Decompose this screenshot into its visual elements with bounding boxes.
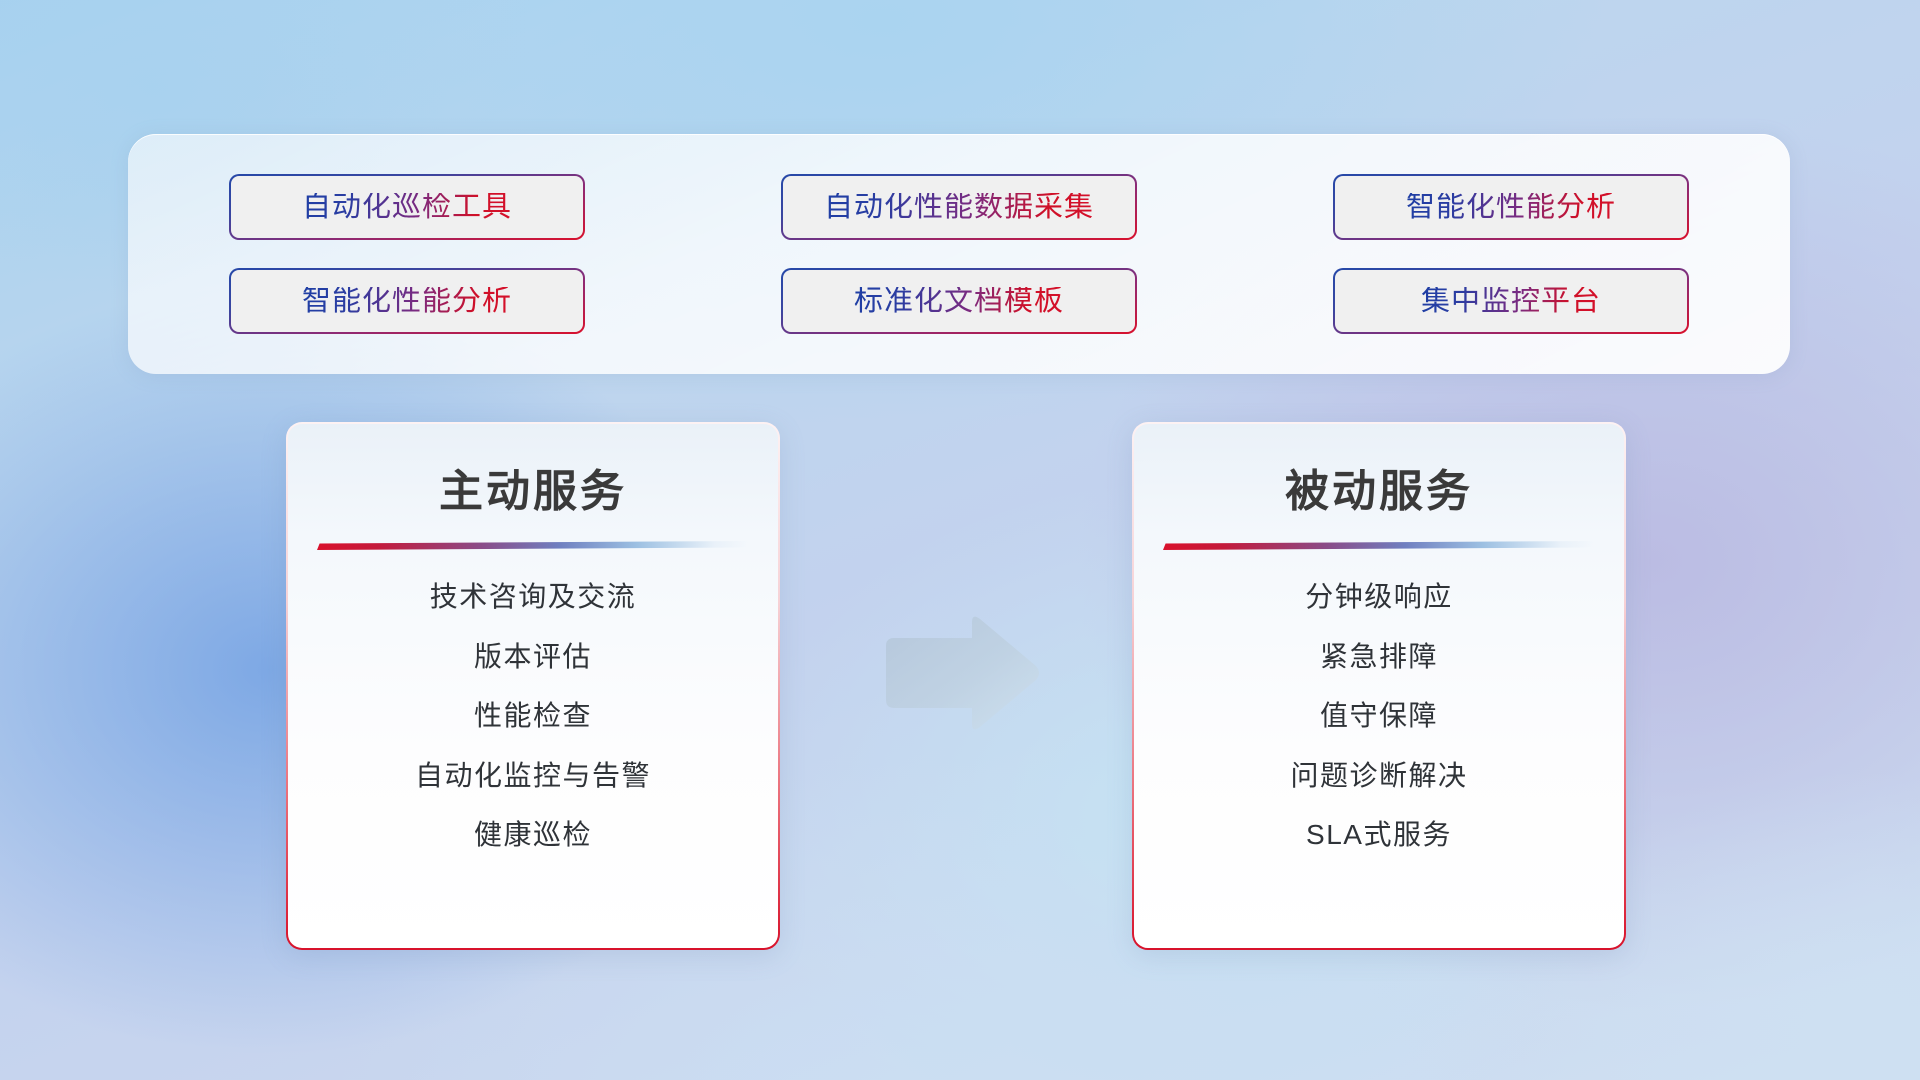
capability-pill[interactable]: 自动化巡检工具 xyxy=(229,174,585,240)
service-list-item: 性能检查 xyxy=(474,699,592,733)
capability-panel: 自动化巡检工具 自动化性能数据采集 智能化性能分析 智能化性能分析 标准化文档模… xyxy=(128,134,1790,374)
service-list-item: 问题诊断解决 xyxy=(1290,759,1467,793)
capability-pill-label: 智能化性能分析 xyxy=(1406,193,1616,222)
service-list-item: 健康巡检 xyxy=(474,818,592,852)
service-card-reactive: 被动服务 分钟级响应 紧急排障 值守保障 问题诊断解决 SLA式服务 xyxy=(1132,422,1626,950)
capability-row-2: 智能化性能分析 标准化文档模板 集中监控平台 xyxy=(128,268,1790,334)
capability-pill-label: 智能化性能分析 xyxy=(302,287,512,316)
capability-pill-label: 自动化巡检工具 xyxy=(302,193,512,222)
service-list-item: 分钟级响应 xyxy=(1305,580,1453,614)
service-list-item: 技术咨询及交流 xyxy=(430,580,637,614)
service-list-item: 版本评估 xyxy=(474,640,592,674)
service-card-proactive: 主动服务 技术咨询及交流 版本评估 性能检查 自动化监控与告警 健康巡检 xyxy=(286,422,780,950)
service-list-item: 自动化监控与告警 xyxy=(415,759,651,793)
capability-pill-label: 自动化性能数据采集 xyxy=(824,193,1094,222)
title-divider xyxy=(317,541,749,550)
capability-row-1: 自动化巡检工具 自动化性能数据采集 智能化性能分析 xyxy=(128,174,1790,240)
capability-pill[interactable]: 自动化性能数据采集 xyxy=(781,174,1137,240)
service-item-list: 技术咨询及交流 版本评估 性能检查 自动化监控与告警 健康巡检 xyxy=(288,580,778,852)
service-list-item: SLA式服务 xyxy=(1306,818,1452,852)
service-item-list: 分钟级响应 紧急排障 值守保障 问题诊断解决 SLA式服务 xyxy=(1134,580,1624,852)
service-list-item: 值守保障 xyxy=(1320,699,1438,733)
capability-pill[interactable]: 标准化文档模板 xyxy=(781,268,1137,334)
capability-pill[interactable]: 智能化性能分析 xyxy=(229,268,585,334)
capability-pill-label: 集中监控平台 xyxy=(1421,287,1601,316)
service-card-title: 主动服务 xyxy=(439,464,627,519)
service-list-item: 紧急排障 xyxy=(1320,640,1438,674)
capability-pill[interactable]: 智能化性能分析 xyxy=(1333,174,1689,240)
title-divider xyxy=(1163,541,1595,550)
capability-pill[interactable]: 集中监控平台 xyxy=(1333,268,1689,334)
flow-arrow-right-icon xyxy=(880,612,1042,734)
service-card-title: 被动服务 xyxy=(1285,464,1473,519)
capability-pill-label: 标准化文档模板 xyxy=(854,287,1064,316)
